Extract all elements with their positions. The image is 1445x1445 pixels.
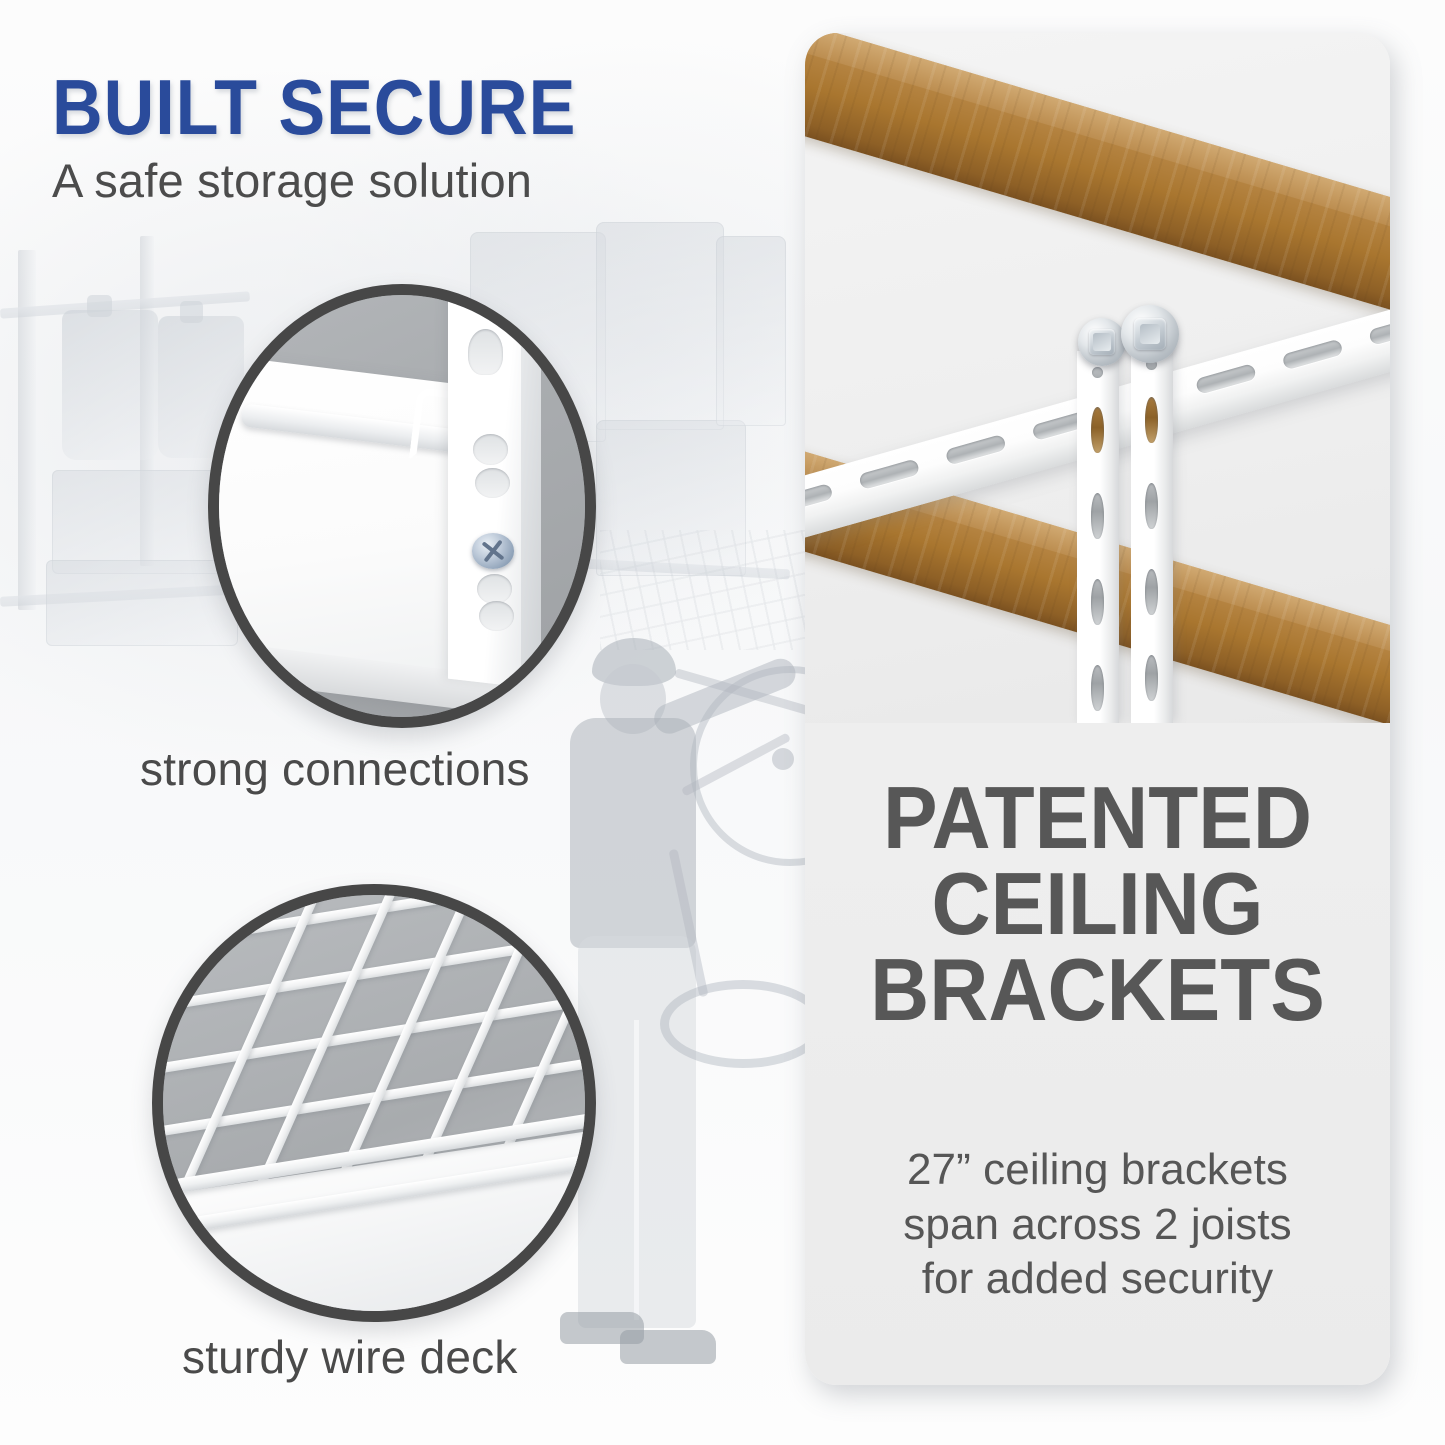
inset-2-artwork [163, 895, 585, 1311]
card-title-line: PATENTED [825, 775, 1369, 861]
card-title: PATENTED CEILING BRACKETS [825, 775, 1369, 1034]
card-title-line: CEILING [825, 861, 1369, 947]
background-bicycle-wheel [660, 980, 826, 1068]
rail-keyhole-slot [1091, 579, 1104, 625]
keyhole-slot [468, 329, 503, 375]
inset-1-artwork [219, 295, 585, 717]
hanger-rail [1131, 345, 1173, 723]
background-bin [596, 222, 724, 430]
headline-block: BUILT SECURE A safe storage solution [52, 72, 752, 205]
hex-bolt [1078, 318, 1126, 366]
infographic-canvas: BUILT SECURE A safe storage solution str… [0, 0, 1445, 1445]
card-body-copy: 27” ceiling brackets span across 2 joist… [823, 1143, 1372, 1307]
rail-round-hole [1092, 367, 1103, 378]
ceiling-joist [805, 33, 1390, 339]
rail-keyhole-slot [1145, 483, 1158, 529]
background-bin [46, 560, 238, 646]
background-container [62, 310, 158, 460]
keyhole-slot [479, 601, 514, 631]
background-person-leg-gap [634, 1020, 639, 1320]
inset-1-caption: strong connections [140, 742, 530, 796]
page-subtitle: A safe storage solution [52, 156, 752, 205]
background-bin [716, 236, 786, 426]
card-body-line: for added security [823, 1252, 1372, 1307]
rail-keyhole-slot [1091, 407, 1104, 453]
hex-bolt [1121, 305, 1179, 363]
card-body-line: 27” ceiling brackets [823, 1143, 1372, 1198]
page-title: BUILT SECURE [52, 72, 682, 144]
keyhole-slot [473, 434, 508, 464]
keyhole-slot [477, 574, 512, 604]
feature-card: PATENTED CEILING BRACKETS 27” ceiling br… [805, 33, 1390, 1385]
rail-keyhole-slot [1091, 493, 1104, 539]
background-person-shoe [620, 1330, 716, 1364]
background-bin [52, 470, 232, 574]
card-title-line: BRACKETS [825, 947, 1369, 1033]
background-shelf-upright [18, 250, 36, 610]
background-bicycle-hub [772, 748, 794, 770]
bracket-slot [1368, 314, 1390, 346]
card-photo-ceiling-bracket [805, 33, 1390, 723]
inset-2-caption: sturdy wire deck [182, 1330, 518, 1384]
background-person-torso [570, 718, 696, 948]
hanger-rail [1077, 351, 1119, 723]
rail-keyhole-slot [1145, 397, 1158, 443]
rail-keyhole-slot [1145, 655, 1158, 701]
card-body-line: span across 2 joists [823, 1198, 1372, 1253]
rail-keyhole-slot [1145, 569, 1158, 615]
bracket-rail-edge [521, 298, 541, 689]
inset-photo-strong-connections [208, 284, 596, 728]
inset-photo-sturdy-wire-deck [152, 884, 596, 1322]
phillips-screw-icon [472, 533, 514, 568]
rail-keyhole-slot [1091, 665, 1104, 711]
